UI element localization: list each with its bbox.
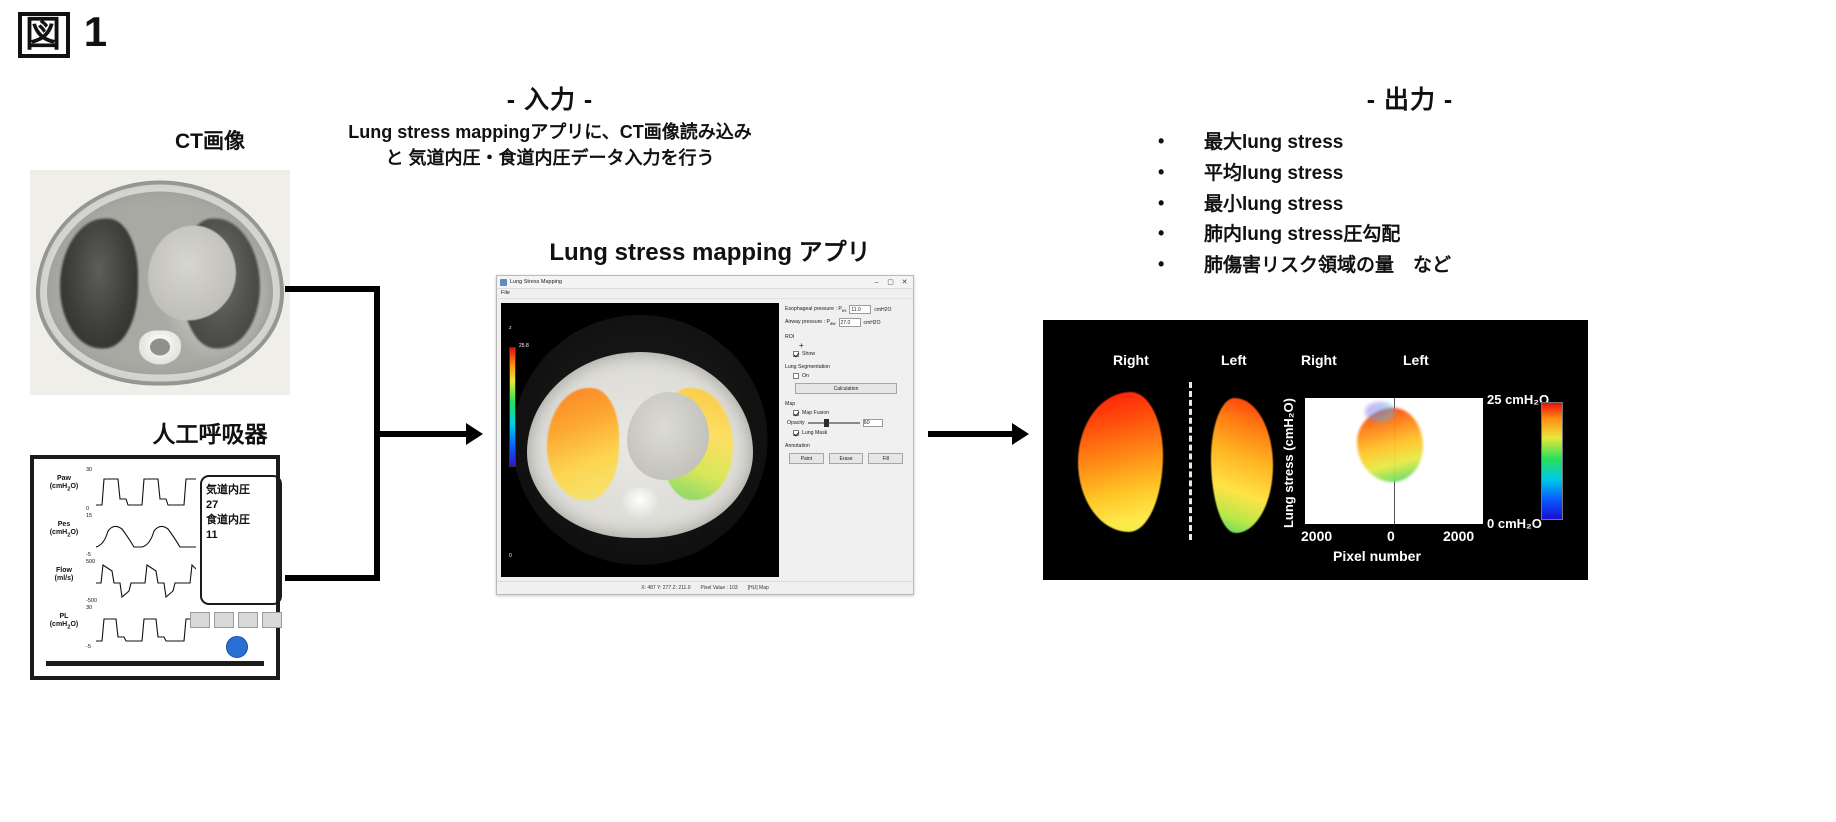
- ventilator-button-3[interactable]: [238, 612, 258, 628]
- ct-torso-shape: [36, 180, 284, 385]
- result-colorbar: [1541, 402, 1563, 520]
- plot-x-tick-center: 0: [1387, 528, 1395, 544]
- status-mode: [HU] Map: [748, 585, 769, 591]
- status-pixel-value: Pixel Value : 103: [701, 585, 738, 591]
- waveform-ymax-flow: 500: [86, 559, 95, 565]
- erase-button[interactable]: Erase: [829, 453, 864, 464]
- output-section-list: 最大lung stress 平均lung stress 最小lung stres…: [1130, 128, 1690, 282]
- readout-airway-label: 気道内圧: [206, 483, 276, 498]
- roi-show-checkbox[interactable]: [793, 351, 799, 357]
- esophageal-pressure-input[interactable]: 11.0: [849, 305, 871, 314]
- opacity-slider-knob[interactable]: [824, 419, 829, 427]
- app-heading: Lung stress mapping アプリ: [530, 232, 890, 267]
- readout-esophageal-label: 食道内圧: [206, 513, 276, 528]
- output-list-item: 平均lung stress: [1130, 159, 1690, 190]
- waveform-ymax-pes: 15: [86, 513, 92, 519]
- airway-pressure-label: Airway pressure : Paw: [785, 319, 836, 326]
- window-title: Lung Stress Mapping: [510, 279, 868, 285]
- waveform-ymin-pl: -5: [86, 644, 91, 650]
- result-label-left-map: Left: [1221, 352, 1247, 368]
- viewport-torso-shape: [527, 352, 753, 538]
- map-section-title: Map: [785, 401, 907, 407]
- waveform-row-pl: PL(cmH2O) 30 -5: [44, 605, 194, 650]
- viewport-ruler-label: 2: [509, 325, 512, 330]
- roi-section-title: ROI: [785, 334, 907, 340]
- airway-pressure-row: Airway pressure : Paw 27.0 cmH2O: [785, 318, 907, 327]
- ventilator-base-bar: [46, 661, 264, 666]
- app-icon: [500, 279, 507, 286]
- input-section-line2: と 気道内圧・食道内圧データ入力を行う: [280, 145, 820, 171]
- window-body: 2 25.8 0 Esophageal pressure : Pes 11.0 …: [497, 299, 913, 581]
- calculation-button[interactable]: Calculation: [795, 383, 897, 394]
- annotation-section-title: Annotation: [785, 443, 907, 449]
- esophageal-pressure-subscript: es: [842, 308, 847, 313]
- airway-pressure-unit: cmH2O: [864, 320, 881, 326]
- waveform-row-pes: Pes(cmH2O) 15 -5: [44, 513, 194, 558]
- segmentation-on-label: On: [802, 373, 809, 379]
- arrow-to-output-shaft: [928, 431, 1014, 437]
- menu-bar[interactable]: File: [497, 289, 913, 299]
- waveform-label-pes: Pes(cmH2O): [44, 521, 84, 539]
- result-label-right-plot: Right: [1301, 352, 1337, 368]
- ventilator-button-2[interactable]: [214, 612, 234, 628]
- status-bar: X: 487 Y: 277 Z: 211.0 Pixel Value : 103…: [497, 581, 913, 594]
- ventilator-readout-box: 気道内圧 27 食道内圧 11: [200, 475, 282, 605]
- esophageal-pressure-label: Esophageal pressure : Pes: [785, 306, 846, 313]
- segmentation-on-checkbox[interactable]: [793, 373, 799, 379]
- stress-scatter-plot: [1305, 398, 1483, 524]
- readout-esophageal-value: 11: [206, 528, 276, 543]
- arrow-to-output-head: [1012, 423, 1029, 445]
- waveform-trace-pl: [96, 607, 196, 647]
- plot-x-axis-label: Pixel number: [1333, 548, 1421, 564]
- waveform-row-paw: Paw(cmH2O) 30 0: [44, 467, 194, 512]
- esophageal-pressure-unit: cmH2O: [874, 307, 891, 313]
- esophageal-pressure-label-text: Esophageal pressure : P: [785, 306, 842, 312]
- result-label-left-plot: Left: [1403, 352, 1429, 368]
- lung-stress-map-left: [1211, 398, 1273, 533]
- viewport-colorbar: [509, 347, 516, 467]
- ventilator-panel: Paw(cmH2O) 30 0 Pes(cmH2O) 15 -5 Flow(ml…: [30, 455, 280, 680]
- result-label-right-map: Right: [1113, 352, 1149, 368]
- opacity-row: Opacity 60: [787, 419, 907, 427]
- segmentation-section-title: Lung Segmentation: [785, 364, 907, 370]
- roi-add-icon[interactable]: +: [799, 343, 907, 349]
- waveform-ymin-pes: -5: [86, 552, 91, 558]
- airway-pressure-subscript: aw: [830, 321, 836, 326]
- waveform-row-flow: Flow(ml/s) 500 -500: [44, 559, 194, 604]
- roi-show-label: Show: [802, 351, 815, 357]
- close-icon[interactable]: ✕: [899, 279, 910, 286]
- arrow-ct-horizontal: [285, 286, 380, 292]
- opacity-slider[interactable]: [808, 419, 860, 427]
- map-fusion-checkbox-row[interactable]: Map Fusion: [793, 410, 907, 416]
- segmentation-on-checkbox-row[interactable]: On: [793, 373, 907, 379]
- ventilator-buttons[interactable]: [190, 612, 282, 628]
- plot-y-axis-top-tick: 25: [1308, 302, 1322, 317]
- plot-x-tick-left: 2000: [1301, 528, 1332, 544]
- waveform-label-pl: PL(cmH2O): [44, 613, 84, 631]
- lung-mask-checkbox[interactable]: [793, 430, 799, 436]
- opacity-value-input[interactable]: 60: [863, 419, 883, 427]
- viewport-colorbar-min-label: 0: [509, 553, 512, 559]
- result-panel: Right Left Right Left Lung stress (cmH₂O…: [1043, 320, 1588, 580]
- map-fusion-checkbox[interactable]: [793, 410, 799, 416]
- input-section-line1: Lung stress mappingアプリに、CT画像読み込み: [280, 119, 820, 145]
- paint-button[interactable]: Paint: [789, 453, 824, 464]
- waveform-ymin-paw: 0: [86, 506, 89, 512]
- arrow-to-app-shaft: [378, 431, 468, 437]
- viewport-lung-right-overlay: [547, 388, 619, 500]
- result-colorbar-min-label: 0 cmH₂O: [1487, 516, 1542, 531]
- waveform-label-paw: Paw(cmH2O): [44, 475, 84, 493]
- ventilator-button-4[interactable]: [262, 612, 282, 628]
- roi-show-checkbox-row[interactable]: Show: [793, 351, 907, 357]
- waveform-label-flow: Flow(ml/s): [44, 567, 84, 583]
- opacity-label: Opacity: [787, 420, 805, 426]
- opacity-slider-track: [808, 422, 860, 424]
- waveform-trace-paw: [96, 469, 196, 509]
- ct-viewport[interactable]: 2 25.8 0: [501, 303, 779, 577]
- waveform-ymax-pl: 30: [86, 605, 92, 611]
- airway-pressure-label-text: Airway pressure : P: [785, 319, 830, 325]
- lung-stress-map-right: [1078, 392, 1163, 532]
- output-list-item: 肺傷害リスク領域の量 など: [1130, 251, 1690, 282]
- input-section: - 入力 - Lung stress mappingアプリに、CT画像読み込み …: [280, 80, 820, 171]
- figure-label-number: 1: [84, 8, 109, 55]
- waveform-trace-flow: [96, 561, 196, 601]
- control-panel: Esophageal pressure : Pes 11.0 cmH2O Air…: [781, 299, 913, 581]
- output-list-item: 最小lung stress: [1130, 190, 1690, 221]
- figure-label: 図 1: [18, 8, 109, 58]
- readout-airway-value: 27: [206, 498, 276, 513]
- output-list-item: 肺内lung stress圧勾配: [1130, 220, 1690, 251]
- input-section-title: - 入力 -: [280, 80, 820, 116]
- input-section-body: Lung stress mappingアプリに、CT画像読み込み と 気道内圧・…: [280, 119, 820, 171]
- waveform-ymax-paw: 30: [86, 467, 92, 473]
- waveform-trace-pes: [96, 515, 196, 555]
- ventilator-title: 人工呼吸器: [85, 415, 335, 449]
- lung-stress-mapping-window[interactable]: Lung Stress Mapping – ▢ ✕ File 2 25.8 0 …: [496, 275, 914, 595]
- result-colorbar-max-label: 25 cmH₂O: [1487, 392, 1549, 407]
- esophageal-pressure-row: Esophageal pressure : Pes 11.0 cmH2O: [785, 305, 907, 314]
- annotation-buttons: Paint Erase Fill: [789, 453, 903, 464]
- viewport-spine-shape: [621, 488, 659, 518]
- lung-mask-label: Lung Mask: [802, 430, 827, 436]
- lung-mask-checkbox-row[interactable]: Lung Mask: [793, 430, 907, 436]
- menu-item-file[interactable]: File: [501, 290, 510, 296]
- arrow-to-app-head: [466, 423, 483, 445]
- maximize-icon[interactable]: ▢: [885, 279, 896, 286]
- figure-label-box: 図: [18, 12, 70, 58]
- viewport-colorbar-max-label: 25.8: [519, 343, 529, 349]
- fill-button[interactable]: Fill: [868, 453, 903, 464]
- output-section-title: - 出力 -: [1130, 80, 1690, 116]
- window-titlebar[interactable]: Lung Stress Mapping – ▢ ✕: [497, 276, 913, 289]
- output-list-item: 最大lung stress: [1130, 128, 1690, 159]
- ct-image: [30, 170, 290, 395]
- plot-x-tick-right: 2000: [1443, 528, 1474, 544]
- map-divider-dashed-line: [1189, 382, 1192, 540]
- ventilator-knob[interactable]: [226, 636, 248, 658]
- output-section: - 出力 - 最大lung stress 平均lung stress 最小lun…: [1130, 80, 1690, 282]
- minimize-icon[interactable]: –: [871, 279, 882, 286]
- airway-pressure-input[interactable]: 27.0: [839, 318, 861, 327]
- ventilator-screen: Paw(cmH2O) 30 0 Pes(cmH2O) 15 -5 Flow(ml…: [40, 465, 270, 670]
- status-coordinates: X: 487 Y: 277 Z: 211.0: [641, 585, 690, 591]
- map-fusion-label: Map Fusion: [802, 410, 829, 416]
- plot-data-cloud-secondary: [1365, 402, 1395, 422]
- ct-chest-wall-shape: [40, 184, 280, 381]
- ventilator-button-1[interactable]: [190, 612, 210, 628]
- arrow-vent-horizontal: [285, 575, 380, 581]
- plot-y-axis-label: Lung stress (cmH₂O): [1281, 398, 1296, 528]
